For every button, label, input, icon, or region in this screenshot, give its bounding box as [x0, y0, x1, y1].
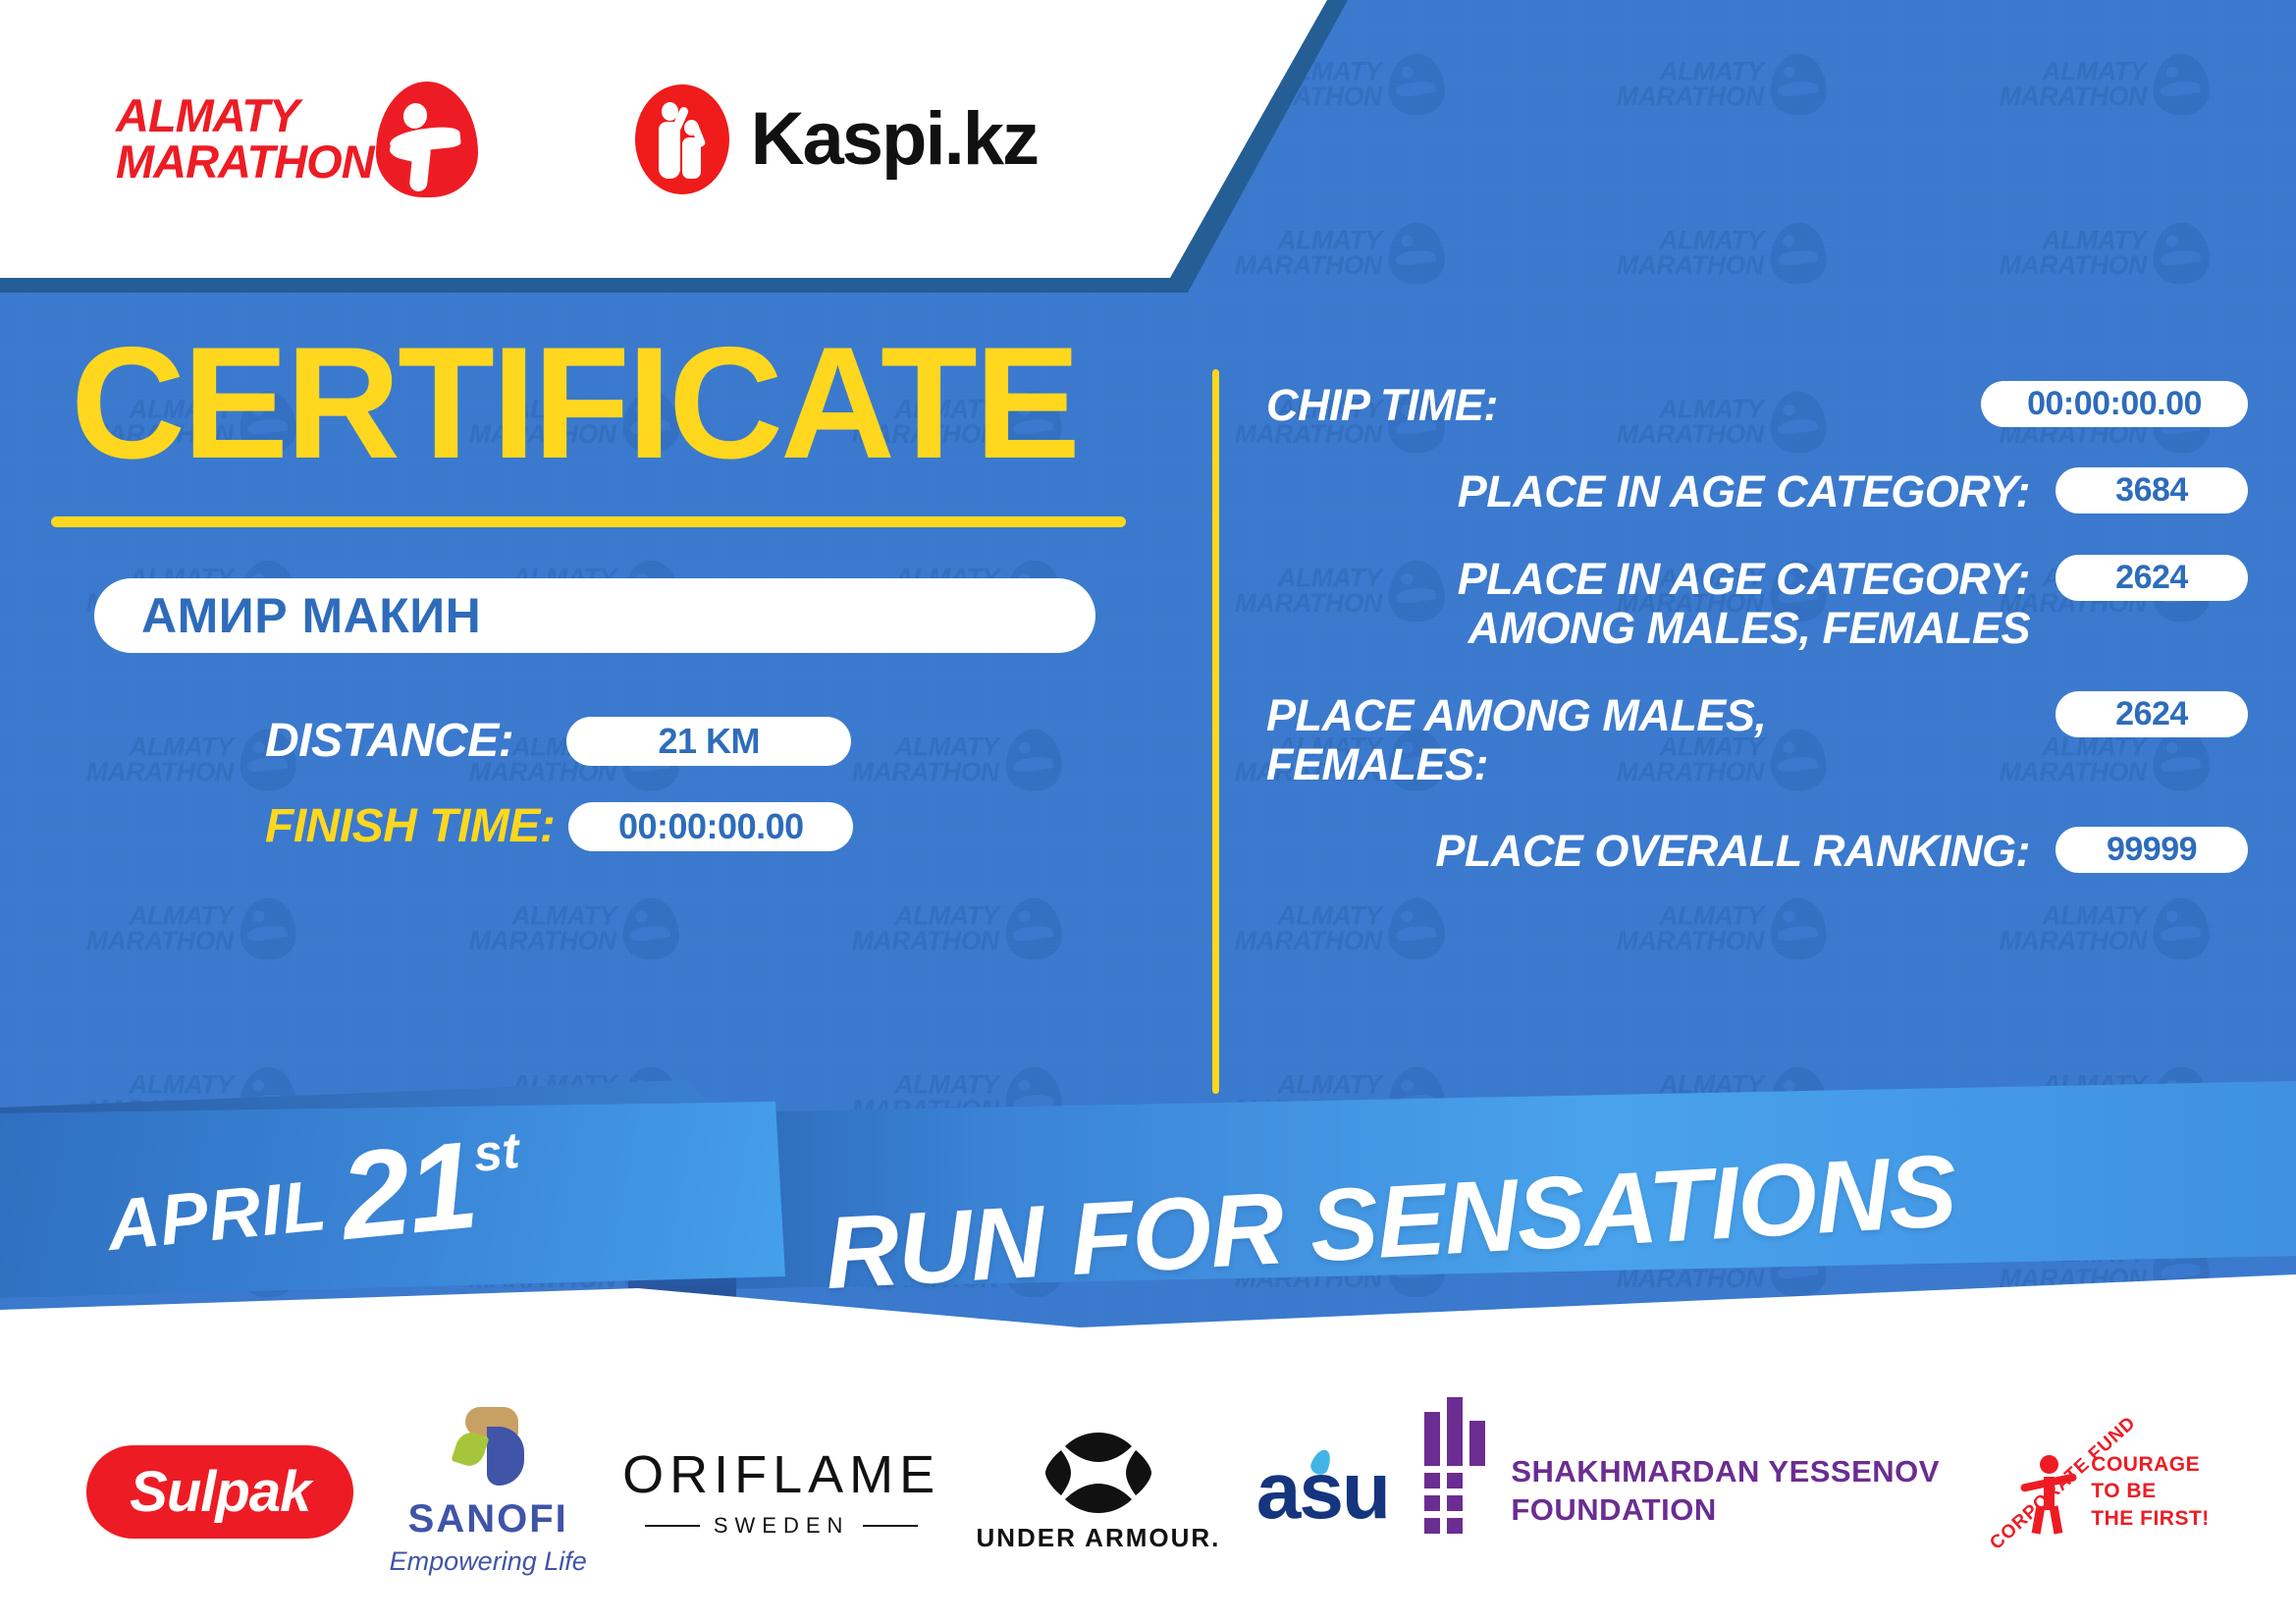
place-age-category-label: PLACE IN AGE CATEGORY: — [1266, 467, 2030, 516]
yessenov-wordmark: SHAKHMARDAN YESSENOV FOUNDATION — [1511, 1453, 1940, 1530]
sponsor-sanofi: SANOFI Empowering Life — [390, 1407, 587, 1577]
place-among-gender-value: 2624 — [2056, 691, 2248, 737]
title-underline — [51, 516, 1126, 527]
sanofi-wordmark: SANOFI — [408, 1497, 568, 1542]
event-day: 21 — [337, 1128, 480, 1252]
place-age-category-gender-row: PLACE IN AGE CATEGORY: AMONG MALES, FEMA… — [1266, 555, 2248, 654]
distance-label: DISTANCE: — [265, 714, 513, 768]
participant-name-field: АМИР МАКИН — [94, 578, 1095, 653]
sanofi-logo: SANOFI Empowering Life — [390, 1407, 587, 1577]
place-age-category-row: PLACE IN AGE CATEGORY: 3684 — [1266, 467, 2248, 516]
certificate-page: ALMATYMARATHONALMATYMARATHONALMATYMARATH… — [0, 0, 2296, 1624]
left-column: CERTIFICATE АМИР МАКИН DISTANCE: 21 KM F… — [0, 324, 1188, 885]
left-stats: DISTANCE: 21 KM FINISH TIME: 00:00:00.00 — [265, 714, 1188, 853]
distance-value: 21 KM — [566, 717, 851, 766]
finish-time-row: FINISH TIME: 00:00:00.00 — [265, 799, 1188, 853]
yessenov-line2: FOUNDATION — [1511, 1491, 1940, 1530]
oriflame-logo: ORIFLAME SWEDEN — [622, 1444, 940, 1539]
sponsor-strip: Sulpak SANOFI Empowering Life ORIFLAME S… — [0, 1359, 2296, 1624]
sanofi-tagline: Empowering Life — [390, 1546, 587, 1577]
asu-logo: asu — [1256, 1445, 1389, 1538]
finish-time-label: FINISH TIME: — [265, 799, 555, 853]
event-day-suffix: st — [471, 1121, 522, 1184]
under-armour-icon — [1032, 1431, 1165, 1515]
sponsor-yessenov-foundation: SHAKHMARDAN YESSENOV FOUNDATION — [1424, 1450, 1940, 1534]
sponsor-under-armour: UNDER ARMOUR. — [976, 1431, 1220, 1553]
sponsor-sulpak: Sulpak — [86, 1445, 353, 1539]
chip-time-row: CHIP TIME: 00:00:00.00 — [1266, 381, 2248, 430]
label-line-2: AMONG MALES, FEMALES — [1468, 603, 2031, 653]
sanofi-bird-icon — [450, 1407, 526, 1491]
finish-time-value: 00:00:00.00 — [568, 802, 853, 851]
place-age-category-gender-label: PLACE IN AGE CATEGORY: AMONG MALES, FEMA… — [1266, 555, 2030, 654]
place-overall-value: 99999 — [2056, 827, 2248, 873]
participant-name-value: АМИР МАКИН — [141, 587, 481, 644]
sponsor-corporate-fund: CORPORATE FUND COURAGE TO BE THE FIRST! — [1975, 1449, 2210, 1534]
vertical-divider — [1212, 369, 1219, 1094]
oriflame-wordmark: ORIFLAME — [622, 1444, 940, 1505]
oriflame-subline: SWEDEN — [645, 1513, 919, 1539]
oriflame-rule-left — [645, 1525, 700, 1527]
page-title: CERTIFICATE — [71, 324, 1188, 483]
place-overall-label: PLACE OVERALL RANKING: — [1266, 827, 2030, 876]
label-line-2: FEMALES: — [1266, 739, 1488, 789]
chip-time-label: CHIP TIME: — [1266, 381, 1955, 430]
place-among-gender-label: PLACE AMONG MALES, FEMALES: — [1266, 691, 2030, 790]
yessenov-line1: SHAKHMARDAN YESSENOV — [1511, 1453, 1940, 1491]
chip-time-value: 00:00:00.00 — [1981, 381, 2248, 427]
results-column: CHIP TIME: 00:00:00.00 PLACE IN AGE CATE… — [1266, 381, 2248, 914]
yessenov-bars-icon — [1424, 1450, 1485, 1534]
sulpak-logo: Sulpak — [86, 1445, 353, 1539]
cf-line2: TO BE — [2091, 1478, 2210, 1504]
sponsor-oriflame: ORIFLAME SWEDEN — [622, 1444, 940, 1539]
corporate-fund-slogan: COURAGE TO BE THE FIRST! — [2091, 1451, 2210, 1532]
oriflame-country: SWEDEN — [714, 1513, 850, 1539]
place-overall-row: PLACE OVERALL RANKING: 99999 — [1266, 827, 2248, 876]
distance-row: DISTANCE: 21 KM — [265, 714, 1188, 768]
under-armour-wordmark: UNDER ARMOUR. — [976, 1523, 1220, 1553]
place-age-category-gender-value: 2624 — [2056, 555, 2248, 601]
shakhmardan-yessenov-foundation-logo: SHAKHMARDAN YESSENOV FOUNDATION — [1424, 1450, 1940, 1534]
corporate-fund-logo: CORPORATE FUND COURAGE TO BE THE FIRST! — [1975, 1449, 2210, 1534]
sponsor-asu: asu — [1256, 1445, 1389, 1538]
label-line-1: PLACE IN AGE CATEGORY: — [1458, 554, 2030, 604]
place-age-category-value: 3684 — [2056, 467, 2248, 514]
place-among-gender-row: PLACE AMONG MALES, FEMALES: 2624 — [1266, 691, 2248, 790]
event-month: APRIL — [104, 1164, 331, 1267]
oriflame-rule-right — [863, 1525, 918, 1527]
under-armour-logo: UNDER ARMOUR. — [976, 1431, 1220, 1553]
label-line-1: PLACE AMONG MALES, — [1266, 690, 1766, 740]
cf-line3: THE FIRST! — [2091, 1505, 2210, 1532]
corporate-fund-figure-icon — [2018, 1449, 2079, 1534]
